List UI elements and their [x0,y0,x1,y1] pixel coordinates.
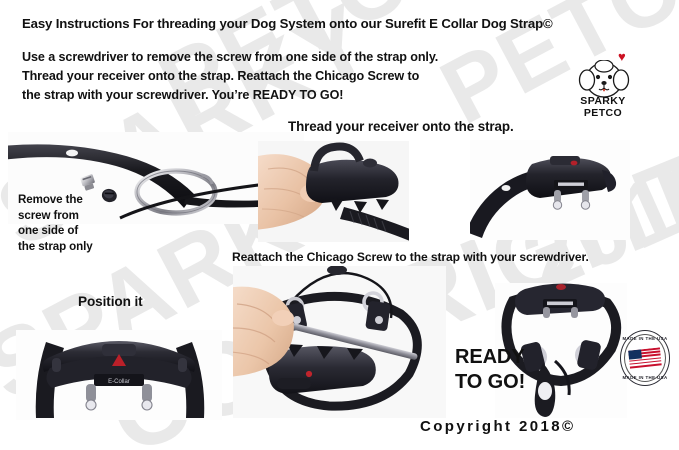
intro-line-2: Thread your receiver onto the strap. Rea… [22,67,438,86]
badge-bottom-text: MADE IN THE USA [620,375,670,380]
intro-paragraph: Use a screwdriver to remove the screw fr… [22,48,438,105]
caption-ready-to-go: READY TO GO! [455,345,525,395]
photo-collar-front-view: E-Collar [16,330,222,420]
badge-top-text: MADE IN THE USA [620,336,670,341]
brand-name-line-1: SPARKY [560,96,646,108]
made-in-usa-badge: MADE IN THE USA MADE IN THE USA [620,330,670,386]
photo-receiver-threaded-on-strap [470,140,630,240]
caption-ready-line-1: READY [455,345,525,370]
intro-line-3: the strap with your screwdriver. You’re … [22,86,438,105]
caption-ready-line-2: TO GO! [455,370,525,395]
instruction-sheet: SPARKY SPARKY PETCO PETCO COPYRIGHT 2018… [0,0,679,450]
copyright-notice: Copyright 2018© [420,418,575,435]
svg-text:E-Collar: E-Collar [108,379,130,385]
caption-thread-receiver: Thread your receiver onto the strap. [288,119,514,134]
brand-logo: ♥ SPARKY PETCO [560,52,646,118]
photo-hand-with-screwdriver-on-collar [233,266,446,418]
caption-position-it: Position it [78,294,143,309]
usa-flag-icon [628,347,662,369]
page-title: Easy Instructions For threading your Dog… [22,16,553,31]
brand-name: SPARKY PETCO [560,96,646,119]
caption-remove-screw: Remove the screw from one side of the st… [18,192,138,254]
caption-reattach-screw: Reattach the Chicago Screw to the strap … [232,250,589,264]
photo-hand-holding-receiver [258,141,409,242]
intro-line-1: Use a screwdriver to remove the screw fr… [22,48,438,67]
brand-name-line-2: PETCO [560,108,646,120]
